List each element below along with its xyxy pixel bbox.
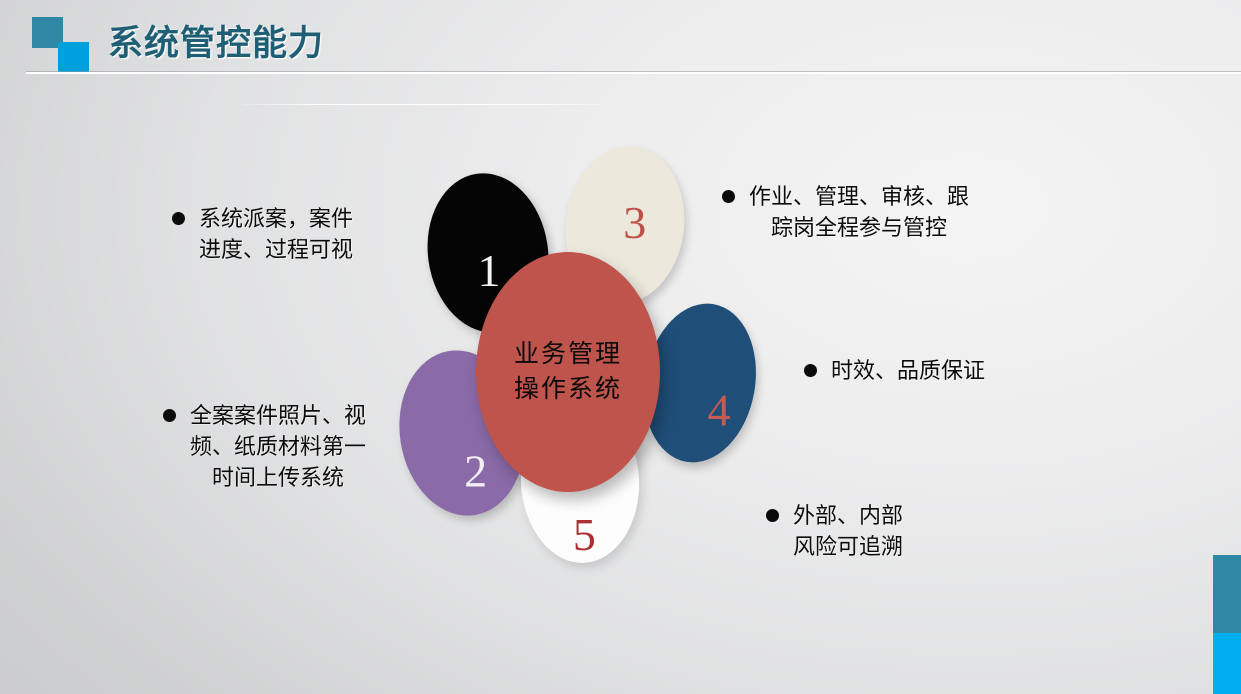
slide-canvas: 系统管控能力 1 3 4 2 5 业务管理 操作系统 系统派案，案件 进度、过程… <box>0 0 1241 694</box>
petal-1-number: 1 <box>477 248 500 294</box>
petal-2-number: 2 <box>464 448 487 494</box>
bullet-icon <box>172 212 185 225</box>
callout-5-text: 外部、内部 风险可追溯 <box>793 500 903 562</box>
flower-diagram: 1 3 4 2 5 业务管理 操作系统 <box>0 0 1241 694</box>
callout-3: 作业、管理、审核、跟 踪岗全程参与管控 <box>722 181 1042 243</box>
center-label-line-2: 操作系统 <box>514 372 622 408</box>
petal-5-number: 5 <box>572 512 595 558</box>
callout-4-text: 时效、品质保证 <box>831 355 985 386</box>
callout-2: 全案案件照片、视 频、纸质材料第一 时间上传系统 <box>163 400 411 494</box>
callout-2-text: 全案案件照片、视 频、纸质材料第一 时间上传系统 <box>190 400 366 494</box>
center-label-line-1: 业务管理 <box>514 337 622 373</box>
bullet-icon <box>766 509 779 522</box>
callout-3-text: 作业、管理、审核、跟 踪岗全程参与管控 <box>749 181 969 243</box>
bullet-icon <box>163 409 176 422</box>
bullet-icon <box>722 190 735 203</box>
callout-4: 时效、品质保证 <box>804 355 1044 386</box>
center-node[interactable]: 业务管理 操作系统 <box>476 252 660 492</box>
bullet-icon <box>804 364 817 377</box>
callout-1-text: 系统派案，案件 进度、过程可视 <box>199 203 353 265</box>
callout-1: 系统派案，案件 进度、过程可视 <box>172 203 408 265</box>
petal-3-number: 3 <box>623 200 646 246</box>
petal-4-number: 4 <box>707 388 730 434</box>
callout-5: 外部、内部 风险可追溯 <box>766 500 1006 562</box>
